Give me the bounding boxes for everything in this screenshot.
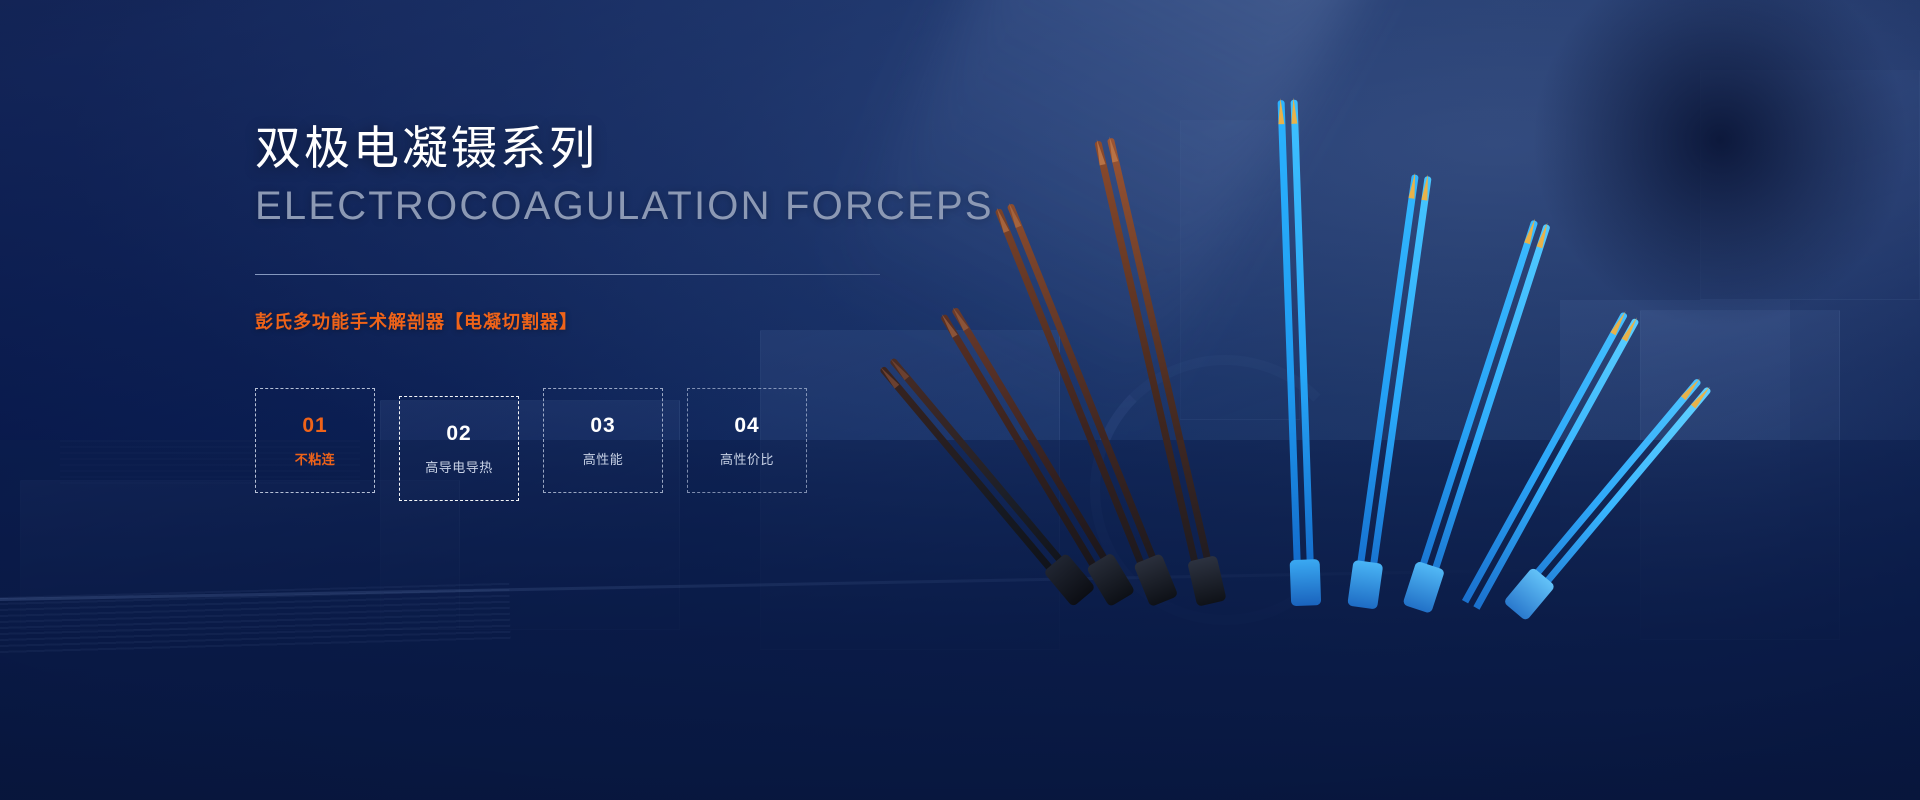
feature-number: 02 bbox=[446, 423, 471, 444]
title-divider bbox=[255, 274, 880, 275]
feature-label: 不粘连 bbox=[295, 453, 336, 466]
page-title-cn: 双极电凝镊系列 bbox=[255, 120, 1075, 178]
feature-number: 01 bbox=[302, 415, 327, 436]
feature-number: 04 bbox=[734, 415, 759, 436]
feature-item-04[interactable]: 04 高性价比 bbox=[687, 388, 807, 493]
banner-content: 双极电凝镊系列 ELECTROCOAGULATION FORCEPS 彭氏多功能… bbox=[255, 120, 1075, 501]
product-banner: 双极电凝镊系列 ELECTROCOAGULATION FORCEPS 彭氏多功能… bbox=[0, 0, 1920, 800]
feature-label: 高性价比 bbox=[720, 453, 774, 466]
feature-label: 高性能 bbox=[583, 453, 624, 466]
feature-item-03[interactable]: 03 高性能 bbox=[543, 388, 663, 493]
feature-number: 03 bbox=[590, 415, 615, 436]
feature-label: 高导电导热 bbox=[425, 461, 493, 474]
feature-item-01[interactable]: 01 不粘连 bbox=[255, 388, 375, 493]
page-subtitle: 彭氏多功能手术解剖器【电凝切割器】 bbox=[255, 308, 1075, 334]
feature-list: 01 不粘连 02 高导电导热 03 高性能 04 高性价比 bbox=[255, 388, 1075, 501]
feature-item-02[interactable]: 02 高导电导热 bbox=[399, 396, 519, 501]
page-title-en: ELECTROCOAGULATION FORCEPS bbox=[255, 182, 1075, 230]
